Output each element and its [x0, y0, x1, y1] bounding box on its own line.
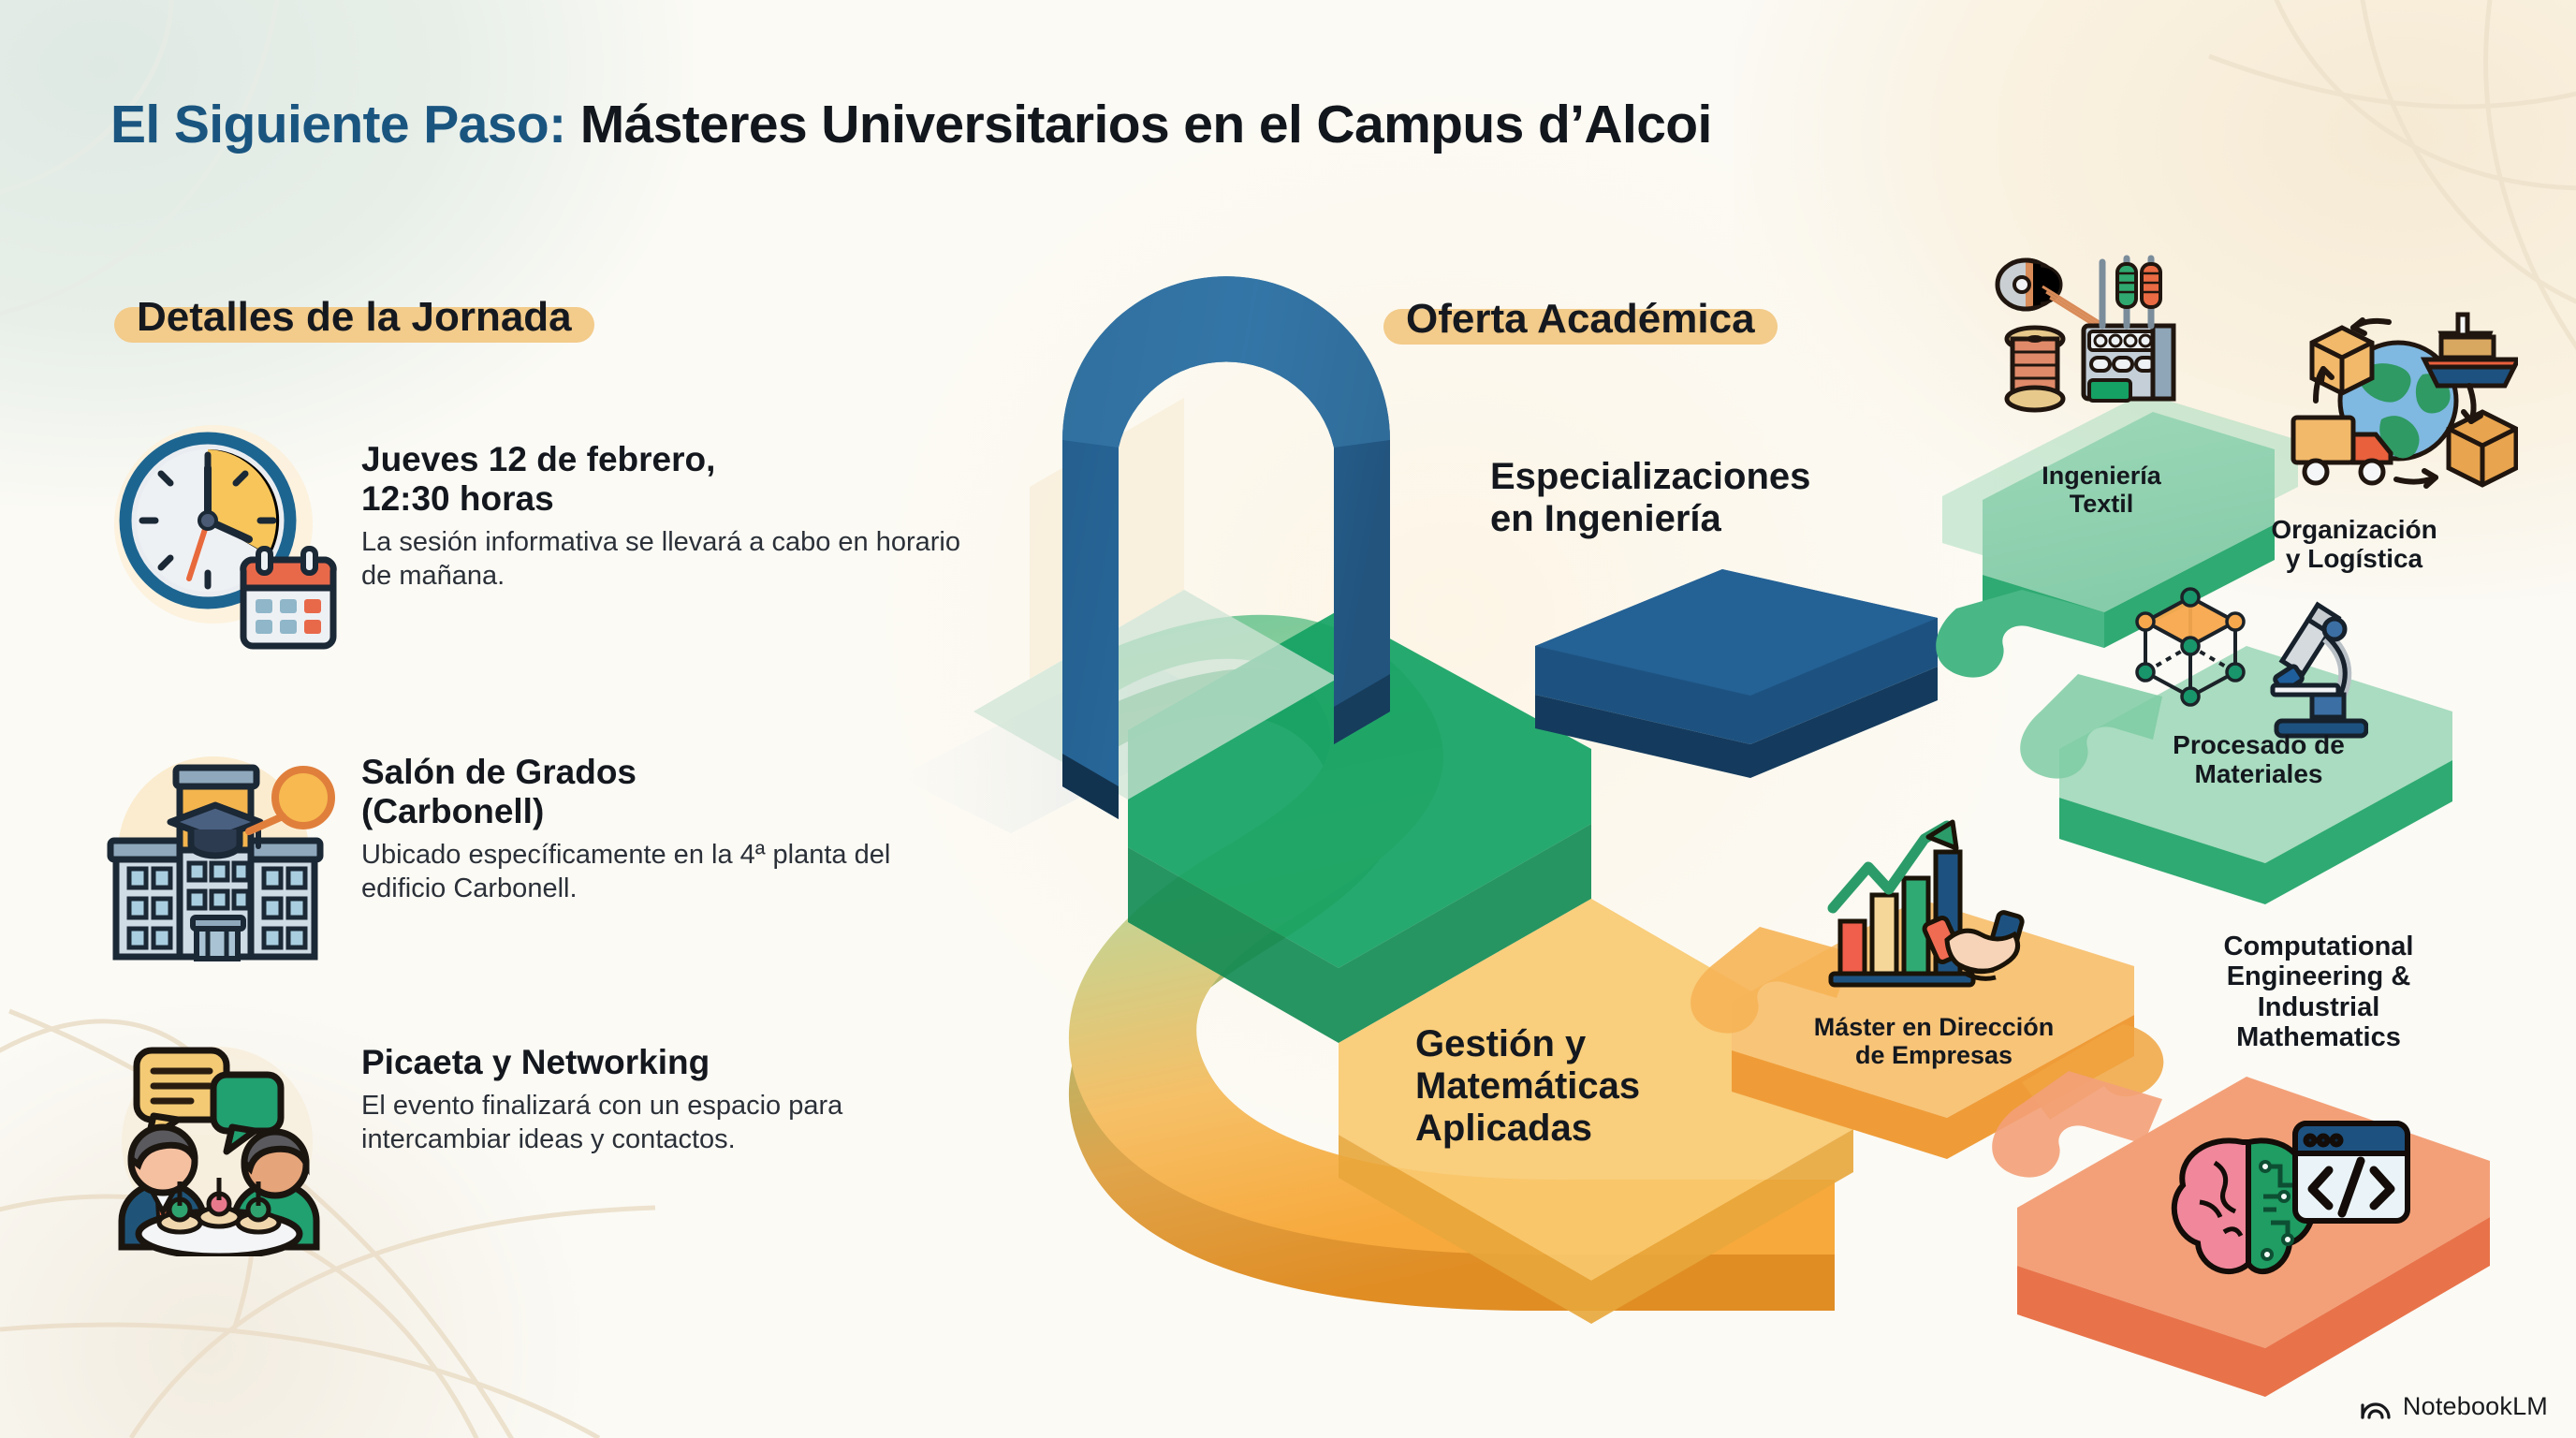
infographic-canvas: El Siguiente Paso: Másteres Universitari…	[0, 0, 2576, 1438]
branch-label-ingenieria: Especializaciones en Ingeniería	[1490, 456, 1810, 540]
logistics-globe-icon	[2284, 281, 2518, 515]
brain-code-icon	[2162, 1118, 2415, 1296]
section-heading-oferta-label: Oferta Académica	[1406, 296, 1755, 342]
program-label-mde: Máster en Dirección de Empresas	[1775, 1013, 2093, 1069]
program-label-materiales: Procesado de Materiales	[2123, 730, 2394, 789]
section-heading-jornada: Detalles de la Jornada	[114, 290, 594, 348]
watermark: NotebookLM	[2360, 1392, 2548, 1421]
program-label-cei: Computational Engineering & Industrial M…	[2173, 932, 2464, 1053]
growth-handshake-icon	[1827, 816, 2071, 1022]
blue-connector	[1535, 569, 1938, 778]
section-heading-oferta: Oferta Académica	[1383, 292, 1778, 350]
notebooklm-logo-icon	[2360, 1394, 2392, 1420]
textile-loom-icon	[1984, 243, 2200, 459]
watermark-label: NotebookLM	[2403, 1392, 2548, 1421]
program-label-textil: Ingeniería Textil	[1998, 462, 2204, 518]
program-label-logistica: Organización y Logística	[2228, 515, 2481, 574]
branch-label-gestion: Gestión y Matemáticas Aplicadas	[1415, 1023, 1640, 1149]
section-heading-jornada-label: Detalles de la Jornada	[137, 294, 572, 340]
